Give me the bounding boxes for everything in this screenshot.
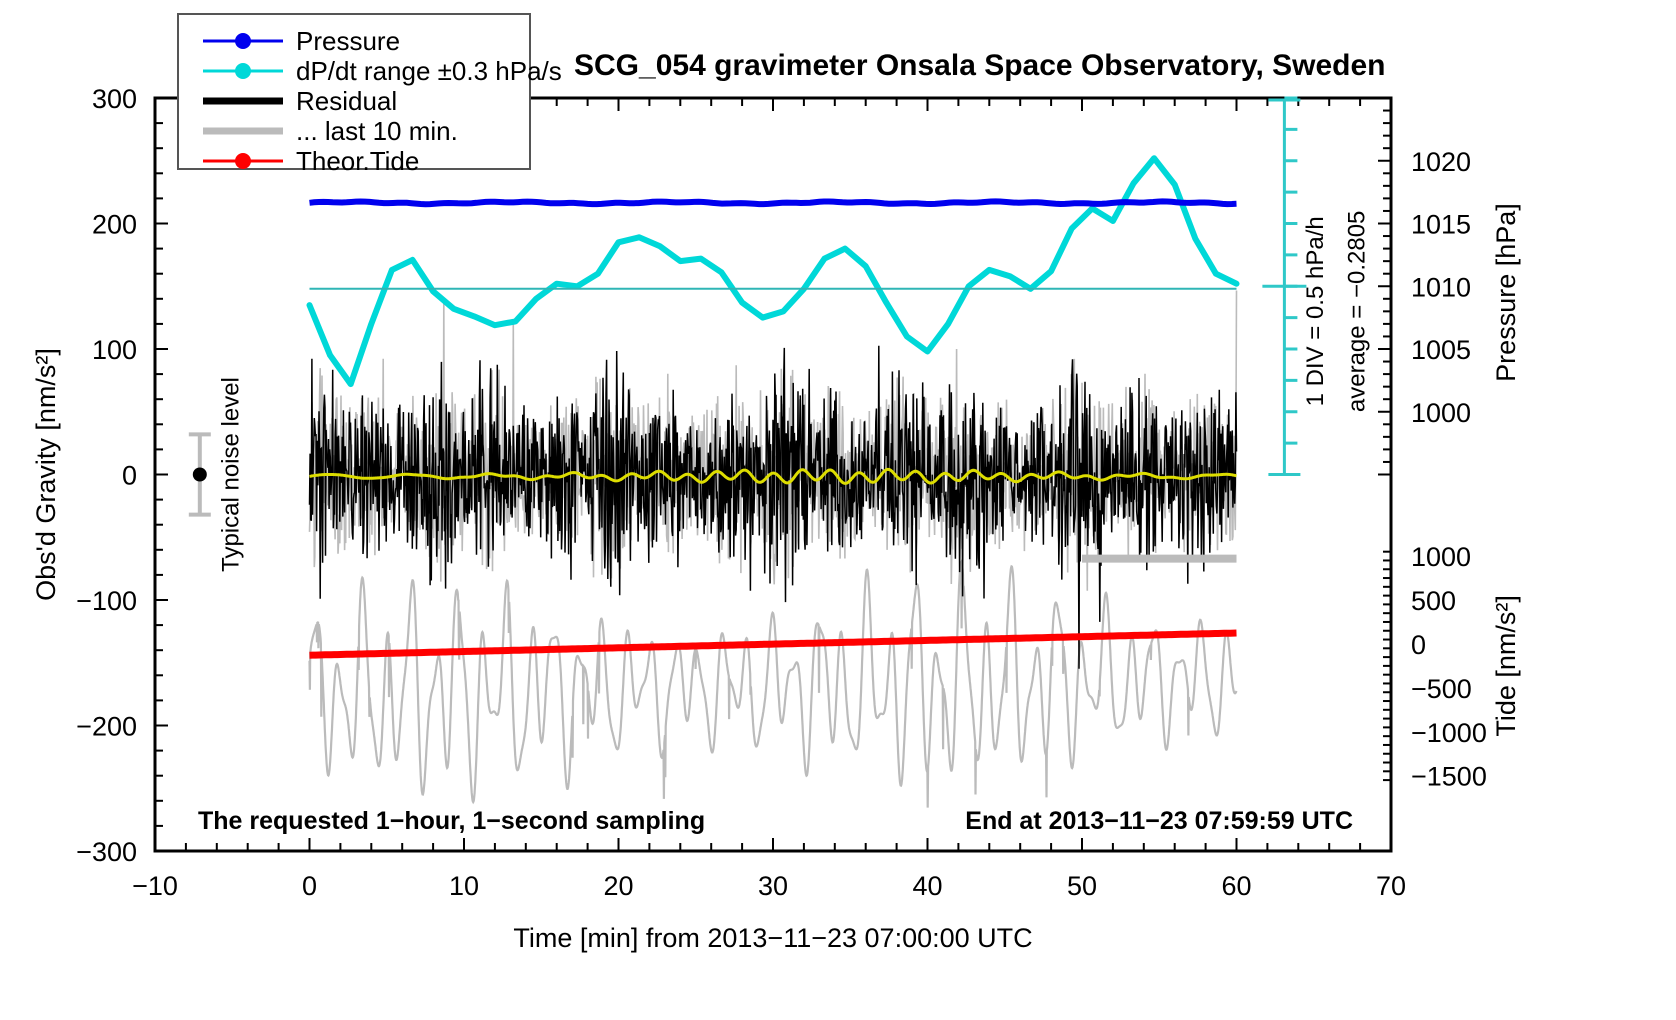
x-tick-label: 50 (1067, 871, 1097, 901)
pressure-trace (310, 201, 1237, 204)
legend[interactable]: PressuredP/dt range ±0.3 hPa/sResidual..… (178, 14, 562, 176)
dpdt-trace (310, 158, 1237, 384)
legend-label: dP/dt range ±0.3 hPa/s (296, 56, 562, 86)
tide-tick-label: 500 (1411, 586, 1456, 616)
legend-marker (235, 63, 251, 79)
x-tick-label: 70 (1376, 871, 1406, 901)
chart-canvas: −10010203040506070Time [min] from 2013−1… (0, 0, 1676, 1020)
y-tick-label: 0 (122, 461, 137, 491)
legend-label: Pressure (296, 26, 400, 56)
tide-tick-label: −1500 (1411, 762, 1487, 792)
pressure-axis-label: Pressure [hPa] (1491, 203, 1521, 382)
y-tick-label: −300 (76, 837, 137, 867)
gray-last10-trace (310, 562, 1237, 808)
tide-tick-label: 1000 (1411, 542, 1471, 572)
y-tick-label: −200 (76, 712, 137, 742)
y-axis-label: Obs'd Gravity [nm/s²] (31, 348, 61, 601)
legend-label: Residual (296, 86, 397, 116)
div-scale-label: 1 DIV = 0.5 hPa/h (1302, 216, 1329, 406)
pressure-tick-label: 1005 (1411, 335, 1471, 365)
legend-marker (235, 33, 251, 49)
x-tick-label: −10 (132, 871, 178, 901)
pressure-tick-label: 1010 (1411, 272, 1471, 302)
legend-label: ... last 10 min. (296, 116, 458, 146)
plot-traces (310, 158, 1237, 807)
x-tick-label: 20 (603, 871, 633, 901)
tide-tick-label: −500 (1411, 674, 1472, 704)
pressure-tick-label: 1015 (1411, 210, 1471, 240)
pressure-tick-label: 1000 (1411, 398, 1471, 428)
average-label: average = −0.2805 (1344, 211, 1371, 413)
x-axis-label: Time [min] from 2013−11−23 07:00:00 UTC (513, 923, 1032, 953)
legend-label: Theor.Tide (296, 146, 419, 176)
tide-axis-label: Tide [nm/s²] (1491, 595, 1521, 737)
tide-tick-label: −1000 (1411, 718, 1487, 748)
typical-noise-marker (189, 434, 211, 514)
end-time-note: End at 2013−11−23 07:59:59 UTC (965, 807, 1353, 835)
y-tick-label: −100 (76, 586, 137, 616)
sampling-note: The requested 1−hour, 1−second sampling (198, 807, 705, 835)
x-tick-label: 0 (302, 871, 317, 901)
x-tick-label: 40 (912, 871, 942, 901)
x-tick-label: 60 (1221, 871, 1251, 901)
y-tick-label: 100 (92, 335, 137, 365)
pressure-tick-label: 1020 (1411, 147, 1471, 177)
theor-tide-trace (310, 633, 1237, 655)
y-tick-label: 300 (92, 84, 137, 114)
gravimeter-plot: −10010203040506070Time [min] from 2013−1… (0, 0, 1676, 1020)
legend-marker (235, 153, 251, 169)
y-tick-label: 200 (92, 210, 137, 240)
x-tick-label: 10 (449, 871, 479, 901)
chart-title: SCG_054 gravimeter Onsala Space Observat… (574, 49, 1386, 82)
residual-trace (310, 346, 1237, 669)
x-tick-label: 30 (758, 871, 788, 901)
tide-tick-label: 0 (1411, 630, 1426, 660)
typical-noise-level-label: Typical noise level (217, 377, 244, 572)
div-scalebar (1262, 98, 1306, 475)
y-axis-right (1378, 111, 1391, 781)
y-axis-left (155, 98, 168, 851)
